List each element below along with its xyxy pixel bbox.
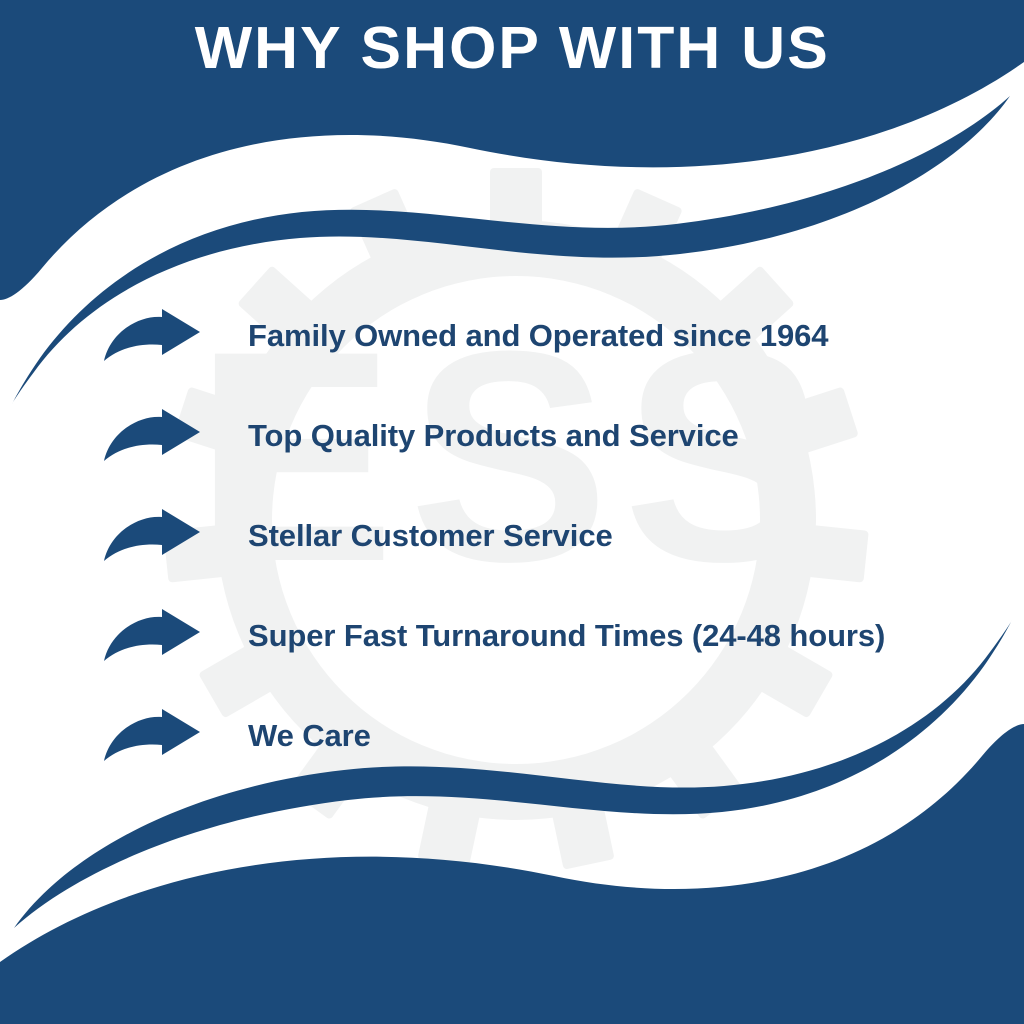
list-item-label: Super Fast Turnaround Times (24-48 hours… — [248, 618, 885, 654]
list-item: Family Owned and Operated since 1964 — [0, 286, 1024, 386]
list-item: We Care — [0, 686, 1024, 786]
list-item: Top Quality Products and Service — [0, 386, 1024, 486]
curved-arrow-icon — [104, 709, 200, 763]
curved-arrow-icon — [104, 309, 200, 363]
why-shop-with-us-poster: ESS WHY SHOP WITH US Family Owned and Op… — [0, 0, 1024, 1024]
header-title-bar: WHY SHOP WITH US — [0, 0, 1024, 96]
list-item-label: Stellar Customer Service — [248, 518, 613, 554]
list-item-label: We Care — [248, 718, 371, 754]
benefits-list: Family Owned and Operated since 1964 Top… — [0, 286, 1024, 786]
list-item-label: Top Quality Products and Service — [248, 418, 739, 454]
list-item-label: Family Owned and Operated since 1964 — [248, 318, 828, 354]
page-title: WHY SHOP WITH US — [194, 19, 829, 78]
curved-arrow-icon — [104, 409, 200, 463]
list-item: Stellar Customer Service — [0, 486, 1024, 586]
list-item: Super Fast Turnaround Times (24-48 hours… — [0, 586, 1024, 686]
curved-arrow-icon — [104, 509, 200, 563]
curved-arrow-icon — [104, 609, 200, 663]
